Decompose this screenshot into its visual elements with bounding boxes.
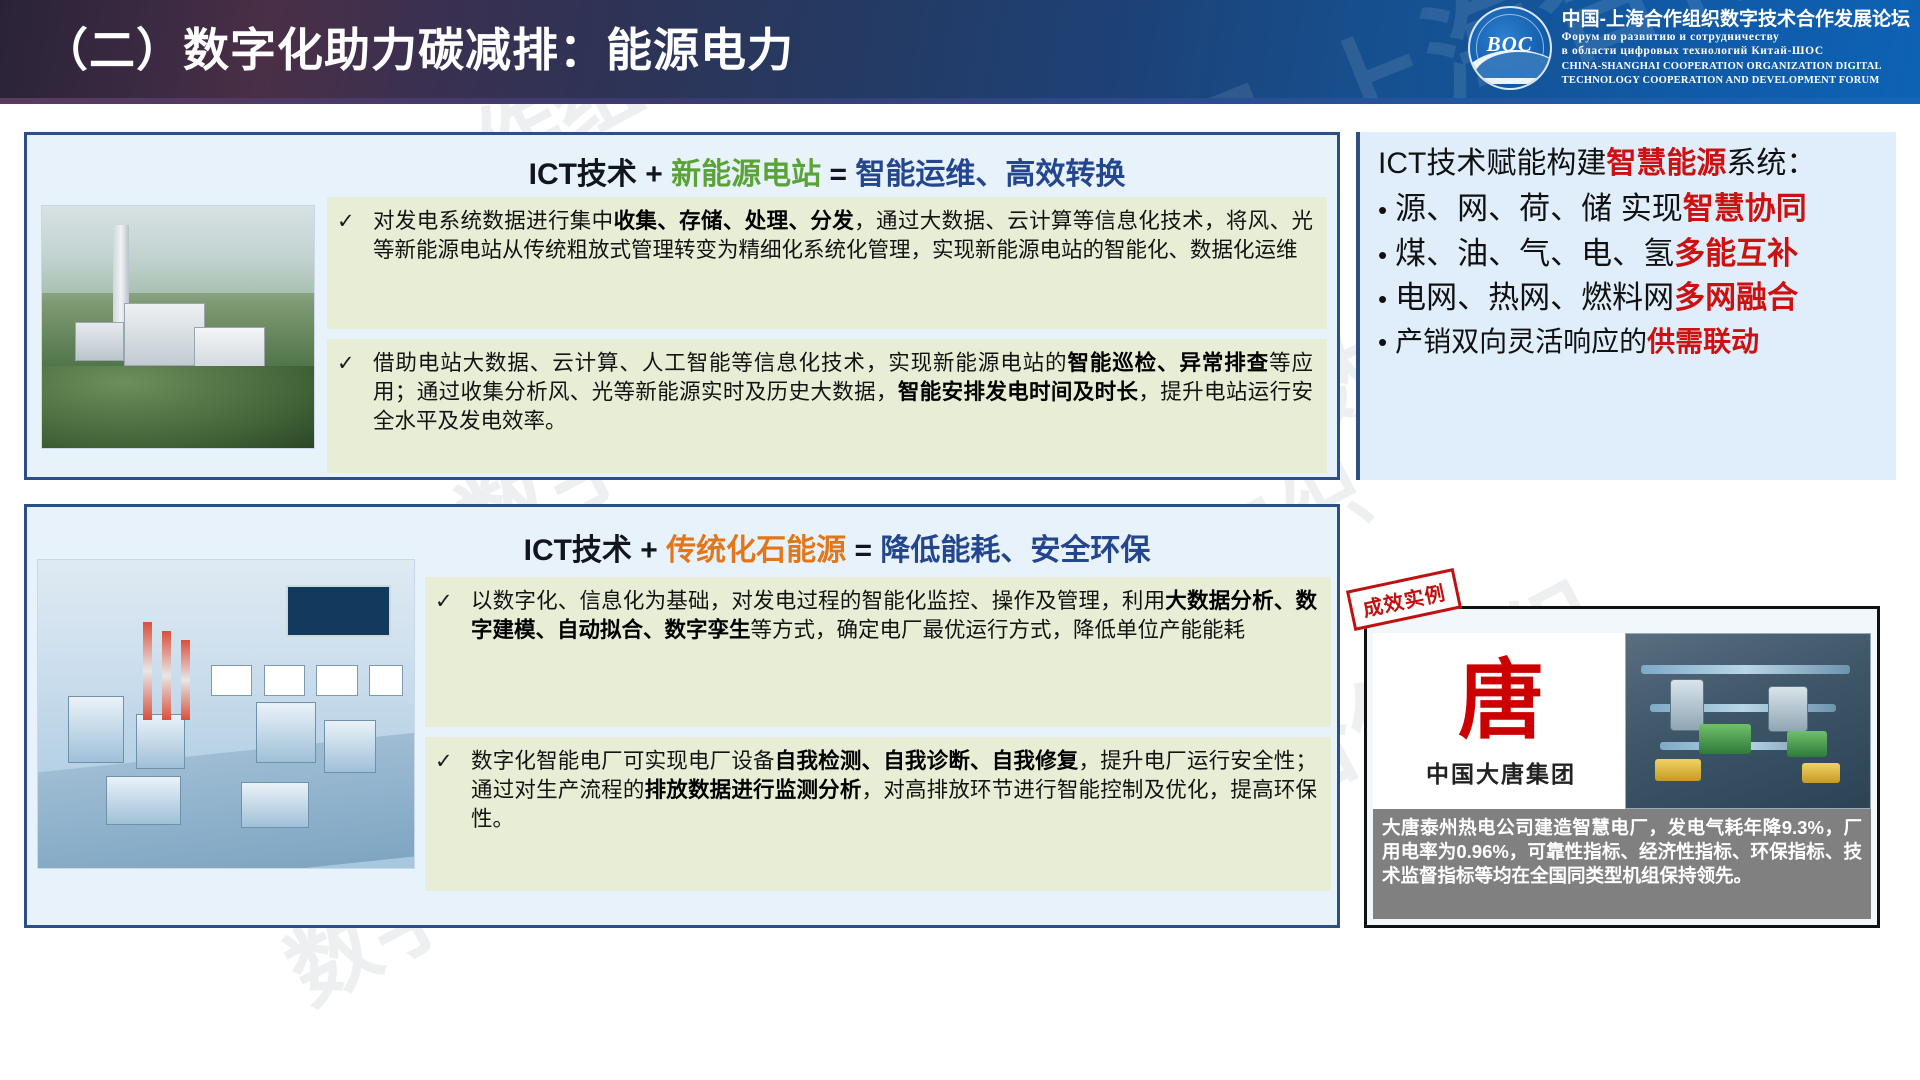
- heading-plus: +: [645, 158, 663, 191]
- heading-part1: ICT技术: [524, 534, 632, 567]
- case-study-box: 成效实例 唐 中国大唐集团 大唐泰州热电公司建造智慧电厂，发: [1364, 606, 1880, 928]
- check-icon: ✓: [337, 207, 373, 319]
- heading-part3: 智能运维、高效转换: [855, 158, 1125, 191]
- plant-illustration-icon: [42, 206, 314, 448]
- right-title-post: 系统：: [1726, 147, 1816, 180]
- bullet-text: 以数字化、信息化为基础，对发电过程的智能化监控、操作及管理，利用大数据分析、数字…: [471, 587, 1317, 717]
- summary-list-item: • 煤、油、气、电、氢多能互补: [1378, 237, 1888, 272]
- bullet-item: ✓ 对发电系统数据进行集中收集、存储、处理、分发，通过大数据、云计算等信息化技术…: [327, 197, 1327, 329]
- summary-item-highlight: 智慧协同: [1683, 192, 1807, 227]
- bullet-dot-icon: •: [1378, 285, 1387, 314]
- datang-logo: 唐 中国大唐集团: [1373, 633, 1629, 809]
- check-icon: ✓: [435, 747, 471, 881]
- heading-part3: 降低能耗、安全环保: [880, 534, 1150, 567]
- boc-emblem-icon: BOC: [1468, 6, 1552, 90]
- summary-list-item: • 产销双向灵活响应的供需联动: [1378, 326, 1888, 357]
- heading-plus: +: [640, 534, 658, 567]
- panel-new-energy: ICT技术 + 新能源电站 = 智能运维、高效转换 ✓ 对发电系统数据进行集中收…: [24, 132, 1340, 480]
- bullet-dot-icon: •: [1378, 196, 1387, 225]
- slide-body: 中国-上海合作组织 数字技术合作中心 大数据合作中心 上海合作组织 数字技术合作…: [0, 104, 1920, 1080]
- bullet-text: 对发电系统数据进行集中收集、存储、处理、分发，通过大数据、云计算等信息化技术，将…: [373, 207, 1313, 319]
- panel-smart-energy-summary: ICT技术赋能构建智慧能源系统： • 源、网、荷、储 实现智慧协同 • 煤、油、…: [1356, 132, 1896, 480]
- slide-header: 中国-上海合作 （二）数字化助力碳减排：能源电力 BOC 中国-上海合作组织数字…: [0, 0, 1920, 104]
- forum-name-cn: 中国-上海合作组织数字技术合作发展论坛: [1562, 10, 1910, 29]
- panel-top-heading: ICT技术 + 新能源电站 = 智能运维、高效转换: [327, 149, 1327, 193]
- right-title-pre: ICT技术赋能构建: [1378, 147, 1606, 180]
- slide-root: 中国-上海合作 （二）数字化助力碳减排：能源电力 BOC 中国-上海合作组织数字…: [0, 0, 1920, 1080]
- heading-part1: ICT技术: [529, 158, 637, 191]
- heading-equals: =: [855, 534, 873, 567]
- forum-name-en-line1: CHINA-SHANGHAI COOPERATION ORGANIZATION …: [1562, 62, 1910, 73]
- pipe-illustration-icon: [1626, 634, 1870, 808]
- new-energy-plant-photo: [41, 205, 315, 449]
- plant-interior-photo: [1625, 633, 1871, 809]
- datang-company-name: 中国大唐集团: [1426, 755, 1576, 789]
- heading-part2: 新能源电站: [671, 158, 821, 191]
- bullet-text: 数字化智能电厂可实现电厂设备自我检测、自我诊断、自我修复，提升电厂运行安全性；通…: [471, 747, 1317, 881]
- summary-item-text: 产销双向灵活响应的: [1395, 326, 1647, 357]
- check-icon: ✓: [435, 587, 471, 717]
- case-caption-text: 大唐泰州热电公司建造智慧电厂，发电气耗年降9.3%，厂用电率为0.96%，可靠性…: [1373, 809, 1871, 919]
- city-illustration-icon: [38, 560, 414, 868]
- forum-name-en-line2: TECHNOLOGY COOPERATION AND DEVELOPMENT F…: [1562, 76, 1910, 87]
- bullet-dot-icon: •: [1378, 241, 1387, 270]
- right-title-highlight: 智慧能源: [1606, 147, 1726, 180]
- summary-item-text: 电网、热网、燃料网: [1395, 281, 1674, 316]
- forum-logo: BOC 中国-上海合作组织数字技术合作发展论坛 Форум по развити…: [1468, 6, 1910, 90]
- heading-equals: =: [830, 158, 848, 191]
- forum-name-ru-line2: в области цифровых технологий Китай-ШОС: [1562, 46, 1910, 58]
- bullet-item: ✓ 数字化智能电厂可实现电厂设备自我检测、自我诊断、自我修复，提升电厂运行安全性…: [425, 737, 1331, 891]
- datang-glyph-icon: 唐: [1453, 653, 1549, 749]
- bullet-item: ✓ 以数字化、信息化为基础，对发电过程的智能化监控、操作及管理，利用大数据分析、…: [425, 577, 1331, 727]
- summary-item-highlight: 供需联动: [1647, 326, 1759, 357]
- panel-fossil-energy: ICT技术 + 传统化石能源 = 降低能耗、安全环保 ✓ 以数字化、信息化为基础…: [24, 504, 1340, 928]
- summary-item-highlight: 多网融合: [1674, 281, 1798, 316]
- page-title: （二）数字化助力碳减排：能源电力: [42, 14, 794, 80]
- summary-item-text: 煤、油、气、电、氢: [1395, 237, 1674, 272]
- check-icon: ✓: [337, 349, 373, 463]
- bullet-item: ✓ 借助电站大数据、云计算、人工智能等信息化技术，实现新能源电站的智能巡检、异常…: [327, 339, 1327, 473]
- forum-name-ru-line1: Форум по развитию и сотрудничеству: [1562, 32, 1910, 44]
- smart-power-plant-photo: [37, 559, 415, 869]
- right-panel-title: ICT技术赋能构建智慧能源系统：: [1378, 146, 1888, 182]
- forum-logo-text: 中国-上海合作组织数字技术合作发展论坛 Форум по развитию и …: [1562, 10, 1910, 87]
- bullet-dot-icon: •: [1378, 328, 1387, 357]
- case-stamp-badge: 成效实例: [1346, 568, 1462, 631]
- summary-list-item: • 源、网、荷、储 实现智慧协同: [1378, 192, 1888, 227]
- summary-item-highlight: 多能互补: [1674, 237, 1798, 272]
- panel-bottom-heading: ICT技术 + 传统化石能源 = 降低能耗、安全环保: [347, 525, 1327, 569]
- bullet-text: 借助电站大数据、云计算、人工智能等信息化技术，实现新能源电站的智能巡检、异常排查…: [373, 349, 1313, 463]
- summary-item-text: 源、网、荷、储 实现: [1395, 192, 1683, 227]
- summary-list-item: • 电网、热网、燃料网多网融合: [1378, 281, 1888, 316]
- heading-part2: 传统化石能源: [666, 534, 846, 567]
